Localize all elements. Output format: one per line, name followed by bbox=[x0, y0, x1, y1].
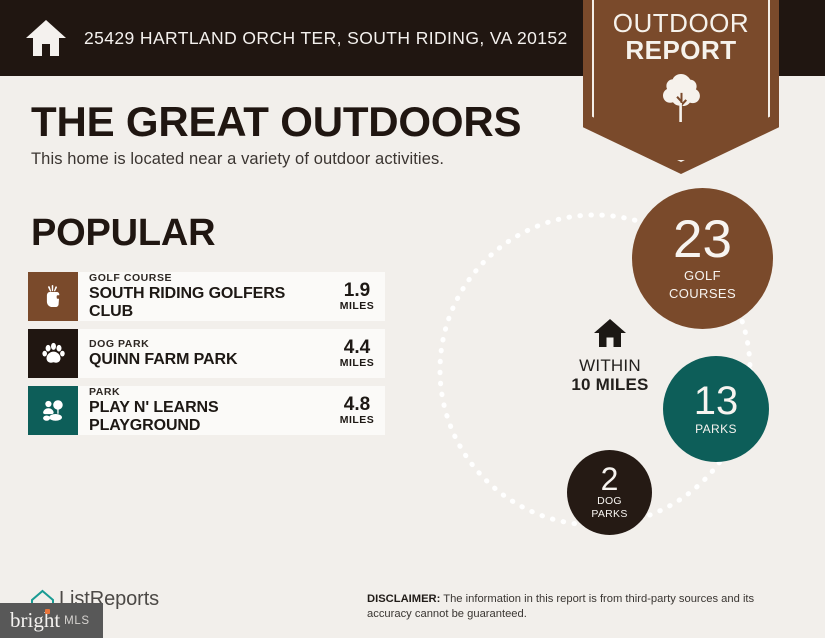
list-item-name: QUINN FARM PARK bbox=[89, 351, 333, 369]
list-item-name: SOUTH RIDING GOLFERS CLUB bbox=[89, 285, 333, 322]
distance-unit: MILES bbox=[340, 357, 375, 369]
distance-unit: MILES bbox=[340, 414, 375, 426]
list-item[interactable]: DOG PARK QUINN FARM PARK 4.4 MILES bbox=[28, 329, 385, 378]
distance-value: 4.4 bbox=[344, 338, 370, 358]
stat-bubble-parks[interactable]: 13 PARKS bbox=[663, 356, 769, 462]
center-line-2: 10 MILES bbox=[549, 375, 671, 394]
bright-mls-badge: bright MLS bbox=[0, 603, 103, 638]
popular-heading: POPULAR bbox=[31, 212, 215, 255]
badge-line-2: REPORT bbox=[583, 37, 779, 64]
stat-label-line-2: COURSES bbox=[669, 287, 736, 301]
list-item[interactable]: GOLF COURSE SOUTH RIDING GOLFERS CLUB 1.… bbox=[28, 272, 385, 321]
list-item-category: PARK bbox=[89, 386, 333, 399]
page-title: THE GREAT OUTDOORS bbox=[31, 98, 521, 146]
property-address: 25429 HARTLAND ORCH TER, SOUTH RIDING, V… bbox=[84, 28, 568, 49]
page-subtitle: This home is located near a variety of o… bbox=[31, 150, 444, 169]
bright-mls-accent-dot bbox=[45, 609, 50, 614]
list-item-text: GOLF COURSE SOUTH RIDING GOLFERS CLUB bbox=[78, 272, 333, 321]
stat-value: 2 bbox=[601, 465, 619, 494]
home-icon bbox=[593, 318, 627, 348]
stat-label-line-2: PARKS bbox=[591, 509, 627, 520]
stat-value: 23 bbox=[673, 216, 732, 265]
outdoor-report-badge: OUTDOOR REPORT bbox=[583, 0, 779, 174]
list-item[interactable]: PARK PLAY N' LEARNS PLAYGROUND 4.8 MILES bbox=[28, 386, 385, 435]
distance-value: 4.8 bbox=[344, 395, 370, 415]
distance-unit: MILES bbox=[340, 300, 375, 312]
list-item-text: PARK PLAY N' LEARNS PLAYGROUND bbox=[78, 386, 333, 435]
list-item-category: GOLF COURSE bbox=[89, 272, 333, 285]
stat-bubble-golf-courses[interactable]: 23 GOLF COURSES bbox=[632, 188, 773, 329]
stat-label-line-1: DOG bbox=[597, 496, 622, 507]
paw-print-icon bbox=[28, 329, 78, 378]
list-item-distance: 4.8 MILES bbox=[333, 386, 385, 435]
bright-mls-brand: bright bbox=[10, 610, 60, 631]
stat-bubble-dog-parks[interactable]: 2 DOG PARKS bbox=[567, 450, 652, 535]
stat-label-line-1: PARKS bbox=[695, 423, 737, 436]
list-item-distance: 1.9 MILES bbox=[333, 272, 385, 321]
badge-line-1: OUTDOOR bbox=[583, 10, 779, 37]
stat-label-line-1: GOLF bbox=[684, 269, 721, 283]
playground-icon bbox=[28, 386, 78, 435]
disclaimer-label: DISCLAIMER: bbox=[367, 593, 440, 605]
popular-list: GOLF COURSE SOUTH RIDING GOLFERS CLUB 1.… bbox=[28, 272, 385, 443]
disclaimer: DISCLAIMER: The information in this repo… bbox=[367, 592, 792, 622]
stat-value: 13 bbox=[694, 383, 739, 420]
list-item-category: DOG PARK bbox=[89, 338, 333, 351]
list-item-text: DOG PARK QUINN FARM PARK bbox=[78, 329, 333, 378]
home-icon bbox=[25, 18, 67, 58]
within-10-miles-diagram: WITHIN 10 MILES 23 GOLF COURSES 13 PARKS… bbox=[432, 176, 825, 562]
distance-value: 1.9 bbox=[344, 281, 370, 301]
list-item-distance: 4.4 MILES bbox=[333, 329, 385, 378]
tree-icon bbox=[658, 72, 704, 124]
list-item-name: PLAY N' LEARNS PLAYGROUND bbox=[89, 399, 333, 436]
diagram-center: WITHIN 10 MILES bbox=[549, 318, 671, 394]
center-line-1: WITHIN bbox=[549, 356, 671, 375]
bright-mls-suffix: MLS bbox=[64, 615, 89, 627]
golf-bag-icon bbox=[28, 272, 78, 321]
